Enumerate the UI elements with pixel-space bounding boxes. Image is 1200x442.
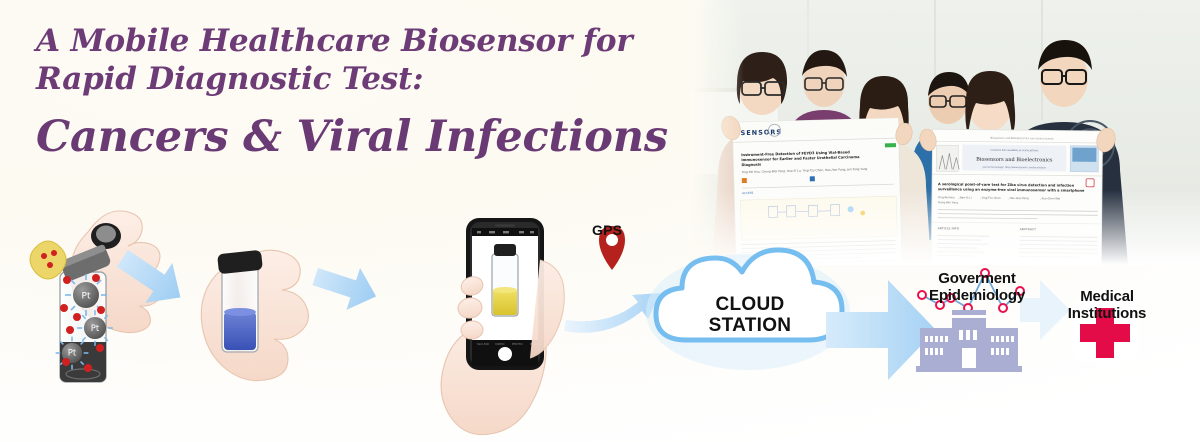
svg-text:SLO-MO: SLO-MO <box>477 342 490 346</box>
svg-text:Contents lists available at Sc: Contents lists available at ScienceDirec… <box>990 149 1038 153</box>
svg-text:Diagnosis: Diagnosis <box>741 163 761 168</box>
med-line-2: Institutions <box>1048 305 1166 322</box>
cloud-label-wrap: CLOUD STATION <box>660 258 840 368</box>
title-line-2: Rapid Diagnostic Test: <box>36 60 656 98</box>
title-line-1: A Mobile Healthcare Biosensor for <box>36 22 656 60</box>
medical-label: Medical Institutions <box>1048 288 1166 322</box>
svg-text:Biosensors and Bioelectronics: Biosensors and Bioelectronics <box>976 157 1053 164</box>
cloud-line-1: CLOUD <box>660 294 840 315</box>
flow-arrow-gps-to-cloud <box>564 293 660 333</box>
flow-arrow-2 <box>308 256 382 318</box>
gov-line-1: Goverment <box>912 270 1042 287</box>
step-3-smartphone-readout: SLO-MOVIDEO PHOTOPORT <box>441 218 564 435</box>
gov-line-2: Epidemiology <box>912 287 1042 304</box>
poster-banner: A Mobile Healthcare Biosensor for Rapid … <box>0 0 1200 442</box>
svg-text:PHOTO: PHOTO <box>512 342 523 346</box>
svg-text:Pt: Pt <box>68 349 77 359</box>
step-1-sample-loading: Pt Pt <box>30 211 162 382</box>
government-label: Goverment Epidemiology <box>912 270 1042 304</box>
svg-text:VIDEO: VIDEO <box>495 342 505 346</box>
sample-droplet <box>30 241 66 279</box>
med-line-1: Medical <box>1048 288 1166 305</box>
svg-text:Biosensors and Bioelectronics: Biosensors and Bioelectronics xxx (xxxx)… <box>991 136 1055 141</box>
government-building-icon <box>916 310 1022 372</box>
cloud-station-label: CLOUD STATION <box>660 294 840 336</box>
page-title: A Mobile Healthcare Biosensor for Rapid … <box>36 22 656 164</box>
vial-buffer <box>217 250 263 352</box>
svg-text:Pt: Pt <box>91 324 100 334</box>
gps-label: GPS <box>592 222 622 238</box>
title-line-3: Cancers & Viral Infections <box>36 110 656 164</box>
pt-label: Pt <box>82 292 91 302</box>
step-2-mixing <box>201 250 308 381</box>
cloud-line-2: STATION <box>660 315 840 336</box>
